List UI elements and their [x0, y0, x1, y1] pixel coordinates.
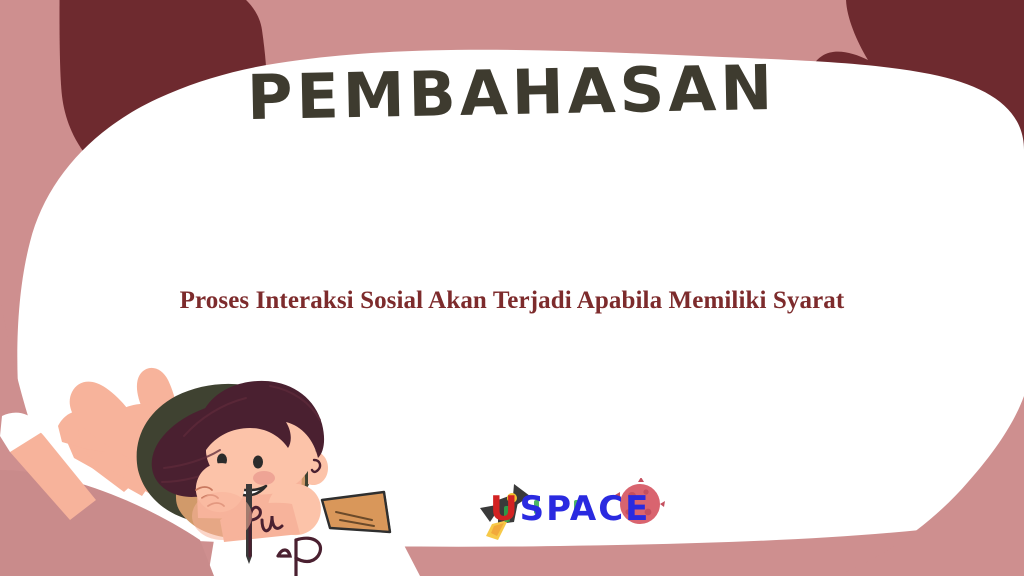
logo-wordmark: USPACE [490, 492, 650, 526]
subtitle-block: Proses Interaksi Sosial Akan Terjadi Apa… [0, 286, 1024, 316]
logo-first-letter: U [490, 489, 520, 529]
cheek-right [253, 471, 275, 485]
slide-canvas: PEMBAHASAN Proses Interaksi Sosial Akan … [0, 0, 1024, 576]
peach-blob [192, 492, 252, 540]
book [322, 492, 390, 532]
eye-right [253, 456, 263, 469]
uspace-logo[interactable]: USPACE [468, 478, 678, 544]
slide-subtitle: Proses Interaksi Sosial Akan Terjadi Apa… [0, 286, 1024, 316]
logo-rest-letters: SPACE [520, 489, 651, 529]
